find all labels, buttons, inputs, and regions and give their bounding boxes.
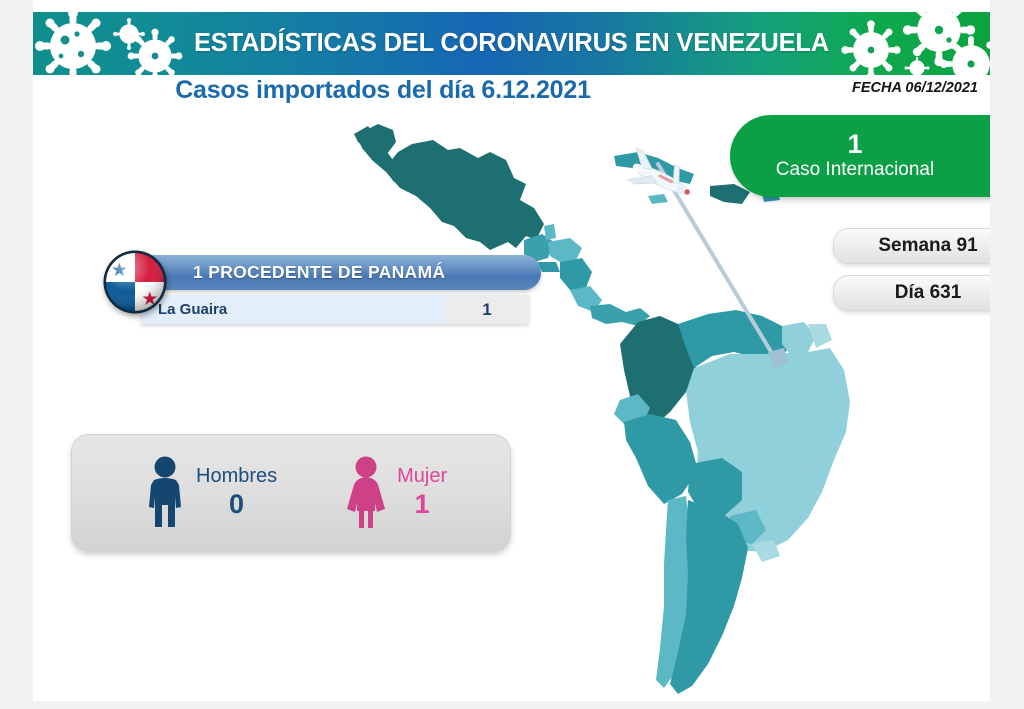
page-sheet: ESTADÍSTICAS DEL CORONAVIRUS EN VENEZUEL… [33, 0, 990, 701]
female-label: Mujer [397, 465, 447, 489]
female-count: 1 [415, 489, 430, 521]
map-region-honduras [548, 238, 582, 262]
international-case-label: Caso Internacional [776, 159, 934, 182]
state-count: 1 [445, 295, 529, 324]
map-region-belize [544, 224, 556, 240]
infographic-canvas: ESTADÍSTICAS DEL CORONAVIRUS EN VENEZUEL… [0, 0, 1024, 709]
header-banner: ESTADÍSTICAS DEL CORONAVIRUS EN VENEZUEL… [33, 12, 990, 75]
origin-country-header[interactable]: 1 PROCEDENTE DE PANAMÁ [141, 255, 541, 290]
airplane-icon [616, 146, 706, 208]
map-region-elsalvador [538, 262, 560, 272]
male-stat: Hombres 0 [144, 455, 277, 531]
origin-country-label: 1 PROCEDENTE DE PANAMÁ [193, 262, 445, 283]
international-case-count: 1 [847, 130, 862, 158]
state-name: La Guaira [141, 295, 445, 324]
map-region-peru [624, 414, 698, 504]
week-pill[interactable]: Semana 91 [833, 228, 990, 264]
male-count: 0 [229, 489, 244, 521]
origin-state-table: La Guaira 1 [141, 295, 529, 324]
day-pill[interactable]: Día 631 [833, 275, 990, 311]
page-title: ESTADÍSTICAS DEL CORONAVIRUS EN VENEZUEL… [33, 12, 990, 75]
map-region-nicaragua [560, 258, 592, 290]
map-region-mexico [356, 124, 544, 250]
gender-stats-panel: Hombres 0 Mujer 1 [71, 434, 511, 552]
male-text: Hombres 0 [196, 465, 277, 520]
female-stat: Mujer 1 [345, 455, 447, 531]
male-label: Hombres [196, 465, 277, 489]
female-text: Mujer 1 [397, 465, 447, 520]
male-figure-icon [144, 455, 186, 531]
date-label: FECHA 06/12/2021 [852, 80, 978, 96]
international-case-badge[interactable]: 1 Caso Internacional [730, 115, 990, 197]
female-figure-icon [345, 455, 387, 531]
panama-flag-icon [103, 250, 167, 314]
table-row[interactable]: La Guaira 1 [141, 295, 529, 324]
